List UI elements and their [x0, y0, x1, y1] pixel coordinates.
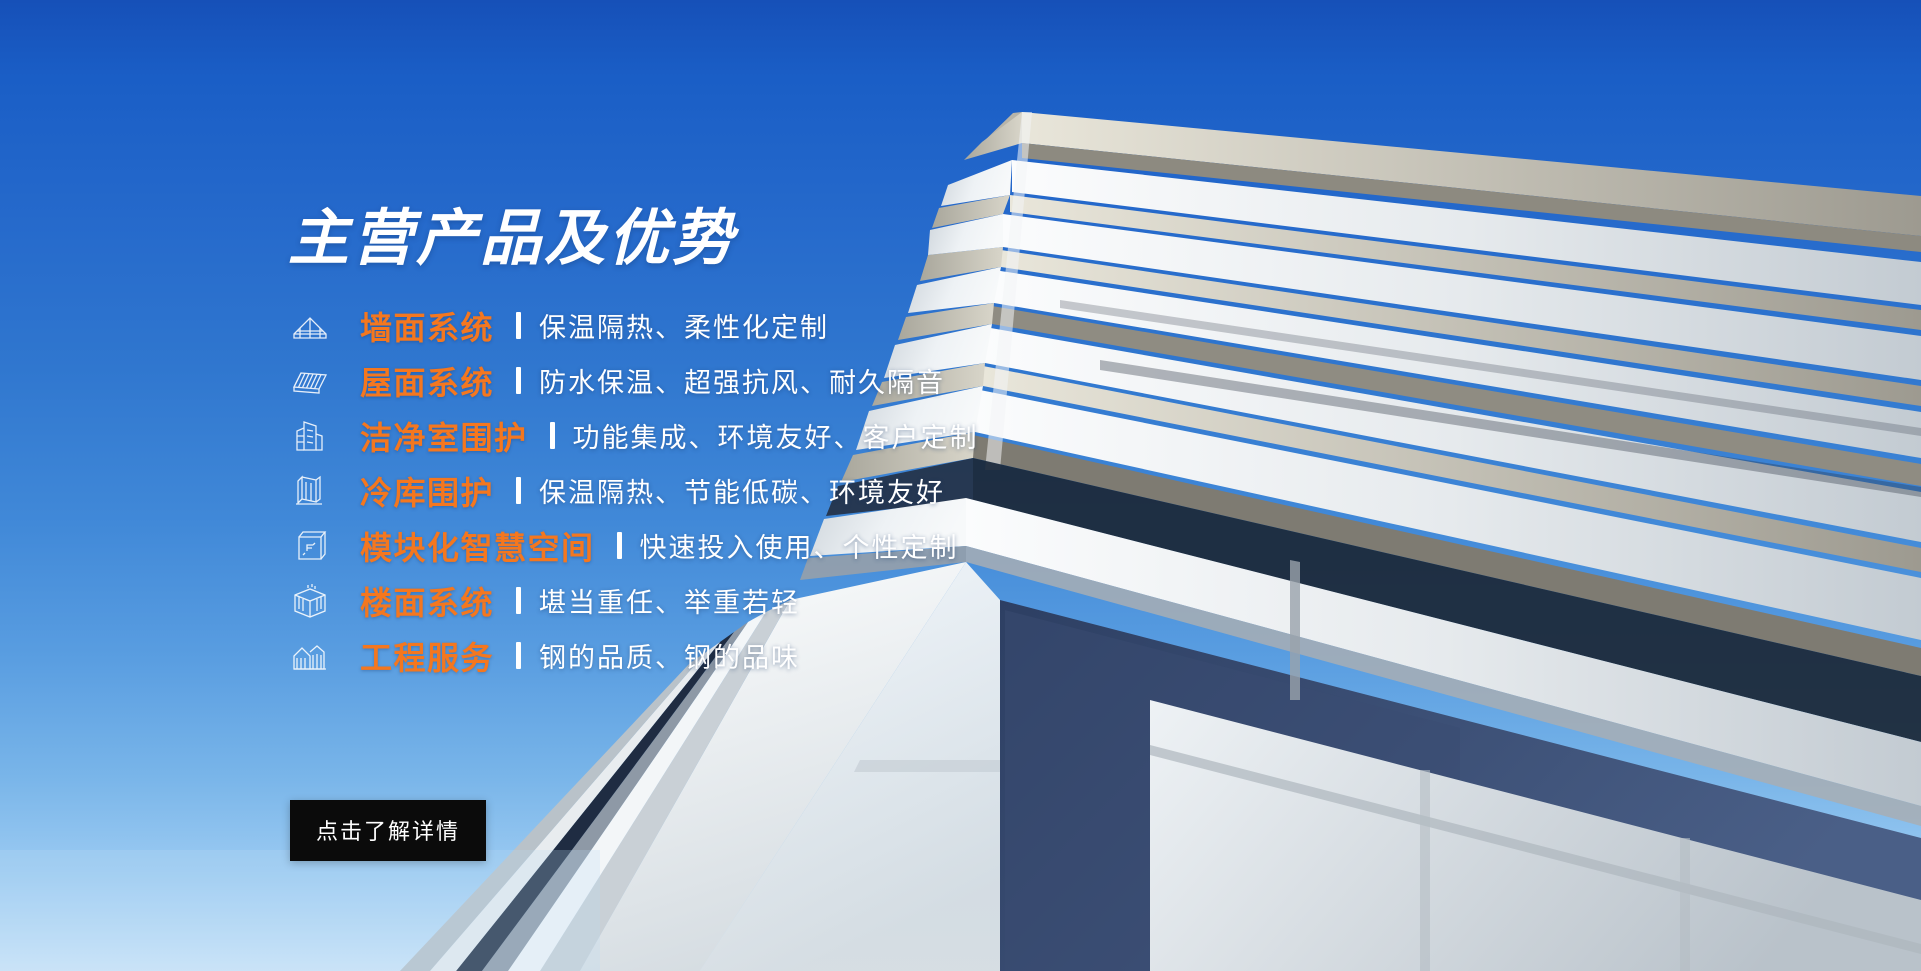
- page-title: 主营产品及优势: [288, 207, 736, 271]
- list-item-title: 冷库围护: [360, 468, 494, 514]
- cleanroom-building-icon: [288, 414, 332, 458]
- learn-more-button[interactable]: 点击了解详情: [290, 800, 486, 861]
- list-item[interactable]: 模块化智慧空间 快速投入使用、个性定制: [288, 518, 1288, 573]
- separator-bar: [516, 367, 521, 394]
- list-item-title: 墙面系统: [360, 303, 494, 349]
- list-item[interactable]: 楼面系统 堪当重任、举重若轻: [288, 573, 1288, 628]
- floor-deck-icon: [288, 579, 332, 623]
- wall-panel-icon: [288, 304, 332, 348]
- engineering-service-icon: [288, 634, 332, 678]
- separator-bar: [516, 642, 521, 669]
- hero-content: 主营产品及优势 墙面系统 保温隔热、柔性化定制: [0, 0, 1921, 971]
- hero-banner: 主营产品及优势 墙面系统 保温隔热、柔性化定制: [0, 0, 1921, 971]
- cold-storage-icon: [288, 469, 332, 513]
- list-item-title: 模块化智慧空间: [360, 523, 595, 569]
- modular-cube-icon: [288, 524, 332, 568]
- list-item-title: 洁净室围护: [360, 413, 528, 459]
- list-item[interactable]: 屋面系统 防水保温、超强抗风、耐久隔音: [288, 353, 1288, 408]
- list-item-title: 屋面系统: [360, 358, 494, 404]
- list-item-desc: 堪当重任、举重若轻: [539, 581, 800, 620]
- list-item[interactable]: 墙面系统 保温隔热、柔性化定制: [288, 298, 1288, 353]
- list-item-desc: 保温隔热、节能低碳、环境友好: [539, 471, 945, 510]
- separator-bar: [516, 312, 521, 339]
- list-item[interactable]: 洁净室围护 功能集成、环境友好、客户定制: [288, 408, 1288, 463]
- list-item[interactable]: 工程服务 钢的品质、钢的品味: [288, 628, 1288, 683]
- roof-panel-icon: [288, 359, 332, 403]
- list-item[interactable]: 冷库围护 保温隔热、节能低碳、环境友好: [288, 463, 1288, 518]
- separator-bar: [550, 422, 555, 449]
- separator-bar: [617, 532, 622, 559]
- list-item-desc: 钢的品质、钢的品味: [539, 636, 800, 675]
- list-item-desc: 保温隔热、柔性化定制: [539, 306, 829, 345]
- list-item-title: 楼面系统: [360, 578, 494, 624]
- product-list: 墙面系统 保温隔热、柔性化定制 屋面系统 防水保温、超强抗风、耐久隔音: [288, 298, 1288, 683]
- separator-bar: [516, 587, 521, 614]
- list-item-desc: 防水保温、超强抗风、耐久隔音: [539, 361, 945, 400]
- list-item-desc: 快速投入使用、个性定制: [640, 526, 959, 565]
- list-item-title: 工程服务: [360, 633, 494, 679]
- separator-bar: [516, 477, 521, 504]
- list-item-desc: 功能集成、环境友好、客户定制: [573, 416, 979, 455]
